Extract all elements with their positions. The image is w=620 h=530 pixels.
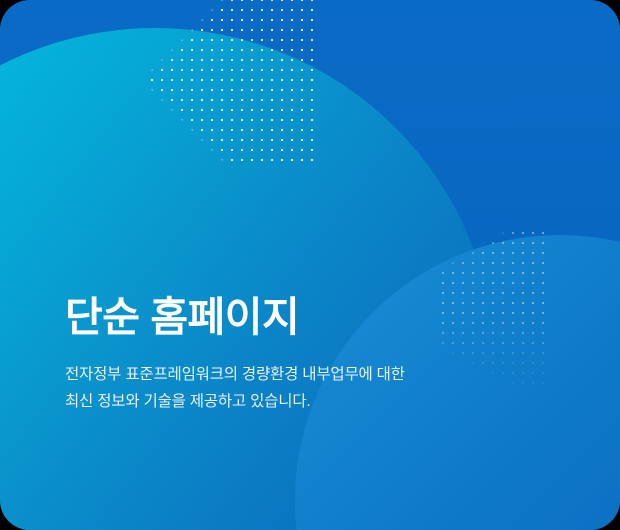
hero-text-block: 단순 홈페이지 전자정부 표준프레임워크의 경량환경 내부업무에 대한 최신 정… (65, 293, 575, 415)
hero-subtitle: 전자정부 표준프레임워크의 경량환경 내부업무에 대한 최신 정보와 기술을 제… (65, 361, 575, 415)
dot-grid-top-decoration (147, 0, 317, 165)
hero-banner-card: 단순 홈페이지 전자정부 표준프레임워크의 경량환경 내부업무에 대한 최신 정… (0, 0, 620, 530)
page-title: 단순 홈페이지 (65, 293, 575, 341)
hero-subtitle-line-1: 전자정부 표준프레임워크의 경량환경 내부업무에 대한 (65, 361, 575, 388)
hero-subtitle-line-2: 최신 정보와 기술을 제공하고 있습니다. (65, 388, 575, 415)
